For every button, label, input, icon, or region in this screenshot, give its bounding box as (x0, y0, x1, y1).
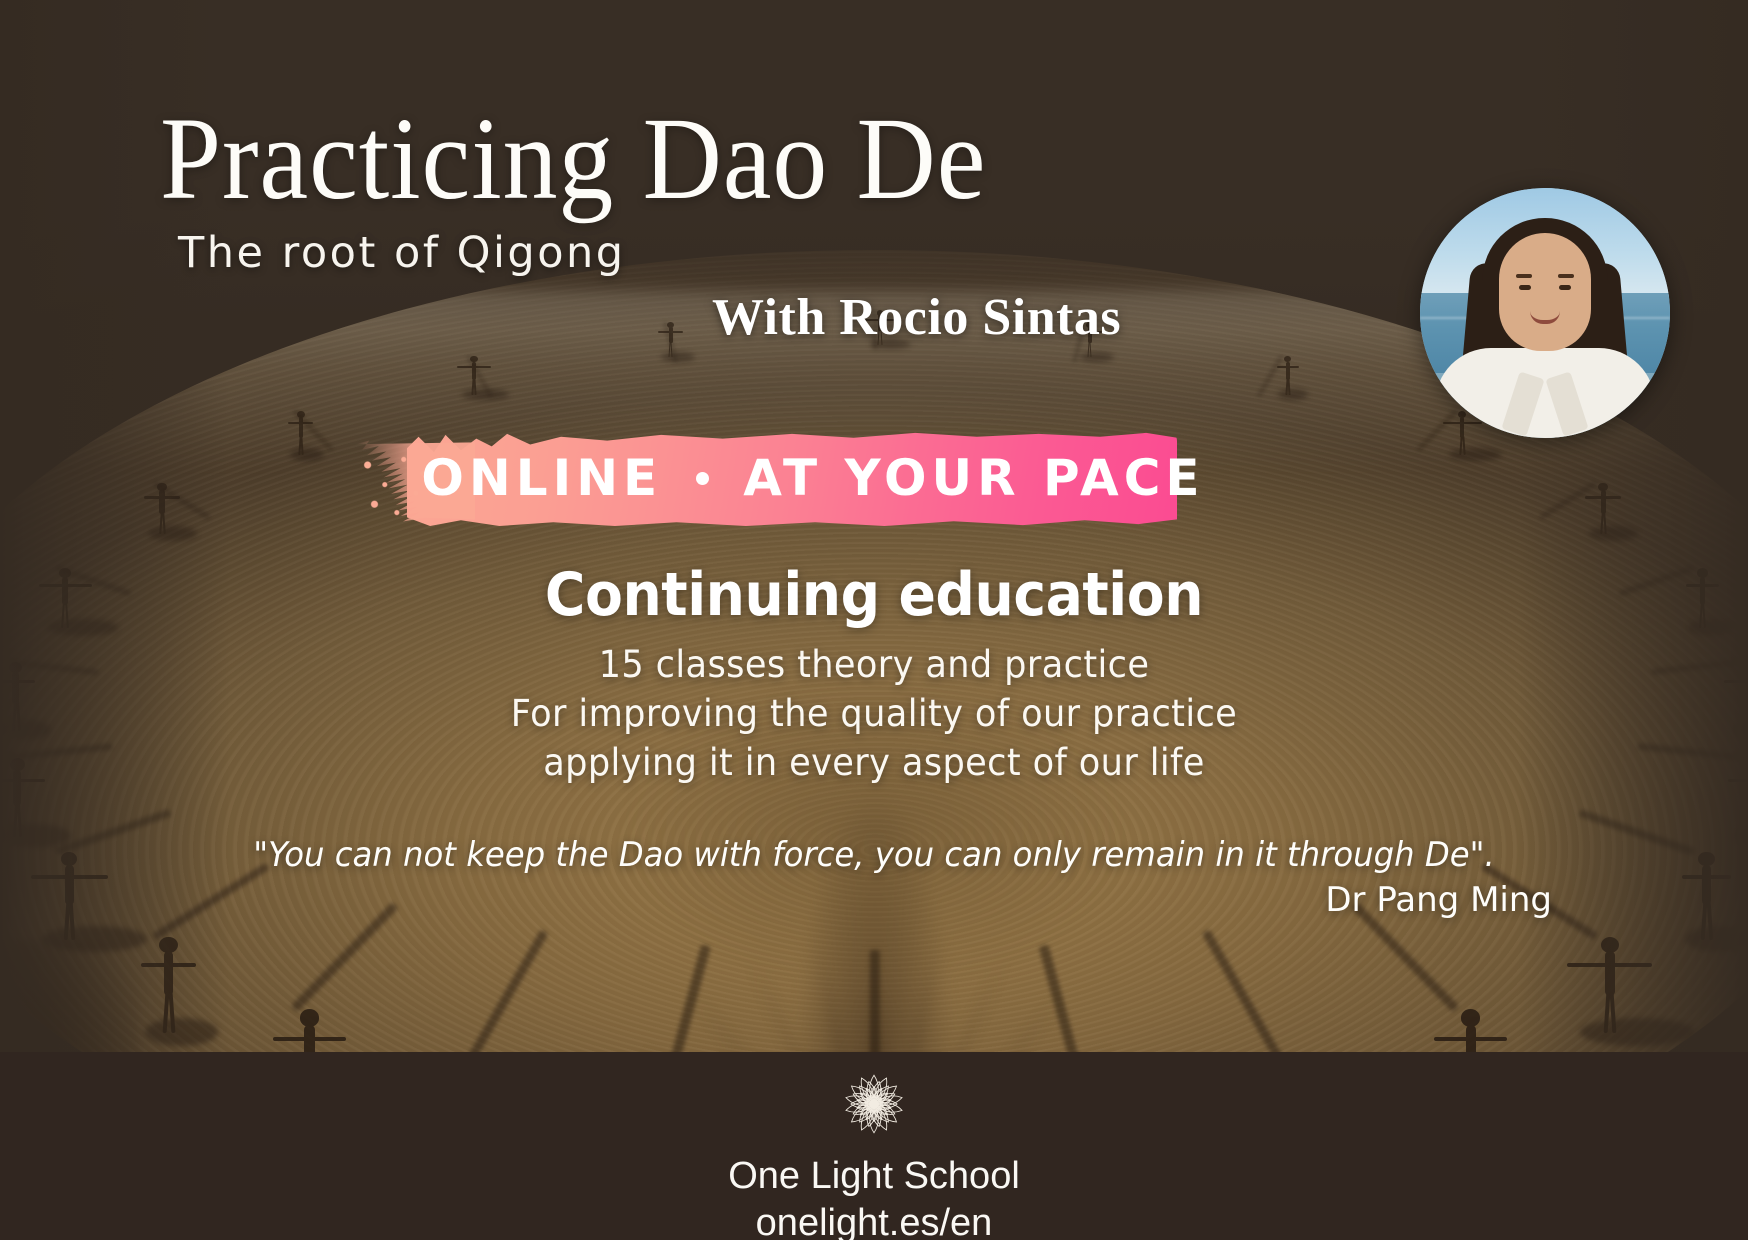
school-name: One Light School (728, 1155, 1020, 1198)
avatar (1420, 188, 1670, 438)
page-title: Practicing Dao De (160, 100, 986, 218)
website-url[interactable]: onelight.es/en (756, 1202, 993, 1240)
portrait-face (1499, 233, 1591, 351)
quote-attribution: Dr Pang Ming (1325, 880, 1552, 920)
lotus-mandala-icon (826, 1056, 922, 1157)
body-line: applying it in every aspect of our life (44, 738, 1705, 787)
body-line: 15 classes theory and practice (44, 640, 1705, 689)
body-line: For improving the quality of our practic… (44, 689, 1705, 738)
presenter-name: With Rocio Sintas (712, 288, 1121, 347)
banner-online-label: ONLINE (421, 449, 662, 507)
poster-canvas: Practicing Dao De The root of Qigong Wit… (0, 0, 1748, 1240)
online-pace-banner: ONLINE AT YOUR PACE (355, 417, 1205, 539)
section-heading: Continuing education (70, 560, 1678, 630)
quote-text: "You can not keep the Dao with force, yo… (44, 835, 1705, 875)
footer-bar: One Light School onelight.es/en (0, 1052, 1748, 1240)
portrait-shirt (1435, 348, 1655, 438)
banner-pace-label: AT YOUR PACE (743, 449, 1204, 507)
banner-separator-dot (696, 472, 709, 485)
body-copy-block: 15 classes theory and practice For impro… (44, 640, 1705, 788)
page-subtitle: The root of Qigong (178, 228, 626, 278)
